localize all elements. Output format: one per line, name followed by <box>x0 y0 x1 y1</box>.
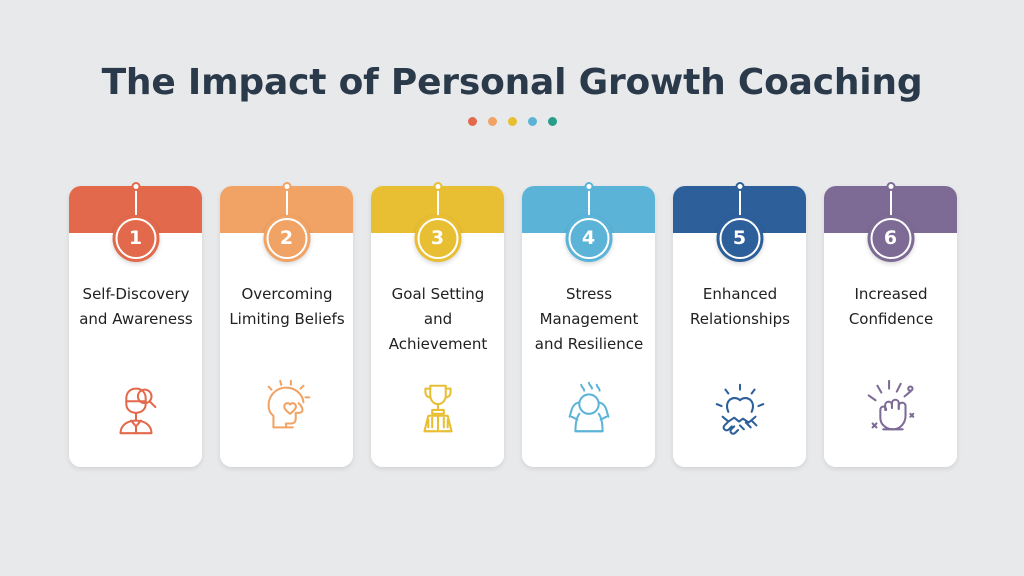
step-number-badge: 3 <box>414 215 461 262</box>
step-card-6[interactable]: 6Increased Confidence <box>824 186 957 467</box>
card-label: Self-Discovery and Awareness <box>75 282 197 332</box>
step-number-badge: 2 <box>263 215 310 262</box>
step-number-badge: 6 <box>867 215 914 262</box>
badge-number: 3 <box>431 229 444 248</box>
pin-head-icon <box>584 182 593 191</box>
pin-head-icon <box>886 182 895 191</box>
pin-head-icon <box>433 182 442 191</box>
badge-number: 1 <box>129 229 142 248</box>
pin-head-icon <box>735 182 744 191</box>
raised-fist-icon <box>860 377 922 439</box>
card-label: Goal Setting and Achievement <box>377 282 499 357</box>
decorative-dot-row <box>0 117 1024 126</box>
pin-head-icon <box>282 182 291 191</box>
stressed-person-head-in-hands-icon <box>558 377 620 439</box>
card-label: Overcoming Limiting Beliefs <box>226 282 348 332</box>
head-profile-heart-mindset-icon <box>256 377 318 439</box>
handshake-icon <box>709 377 771 439</box>
card-label: Increased Confidence <box>830 282 952 332</box>
step-card-1[interactable]: 1Self-Discovery and Awareness <box>69 186 202 467</box>
badge-number: 2 <box>280 229 293 248</box>
badge-number: 6 <box>884 229 897 248</box>
card-label: Stress Management and Resilience <box>528 282 650 357</box>
dot-4-icon <box>528 117 537 126</box>
pin-head-icon <box>131 182 140 191</box>
self-discovery-person-magnifier-icon <box>105 377 167 439</box>
dot-2-icon <box>488 117 497 126</box>
trophy-in-hands-icon <box>407 377 469 439</box>
dot-5-icon <box>548 117 557 126</box>
step-card-2[interactable]: 2Overcoming Limiting Beliefs <box>220 186 353 467</box>
page-title: The Impact of Personal Growth Coaching <box>0 62 1024 103</box>
step-card-5[interactable]: 5Enhanced Relationships <box>673 186 806 467</box>
title-block: The Impact of Personal Growth Coaching <box>0 62 1024 126</box>
step-card-3[interactable]: 3Goal Setting and Achievement <box>371 186 504 467</box>
step-card-list: 1Self-Discovery and Awareness2Overcoming… <box>69 186 957 467</box>
step-number-badge: 5 <box>716 215 763 262</box>
card-label: Enhanced Relationships <box>679 282 801 332</box>
badge-number: 5 <box>733 229 746 248</box>
step-number-badge: 1 <box>112 215 159 262</box>
badge-number: 4 <box>582 229 595 248</box>
step-number-badge: 4 <box>565 215 612 262</box>
dot-1-icon <box>468 117 477 126</box>
step-card-4[interactable]: 4Stress Management and Resilience <box>522 186 655 467</box>
dot-3-icon <box>508 117 517 126</box>
